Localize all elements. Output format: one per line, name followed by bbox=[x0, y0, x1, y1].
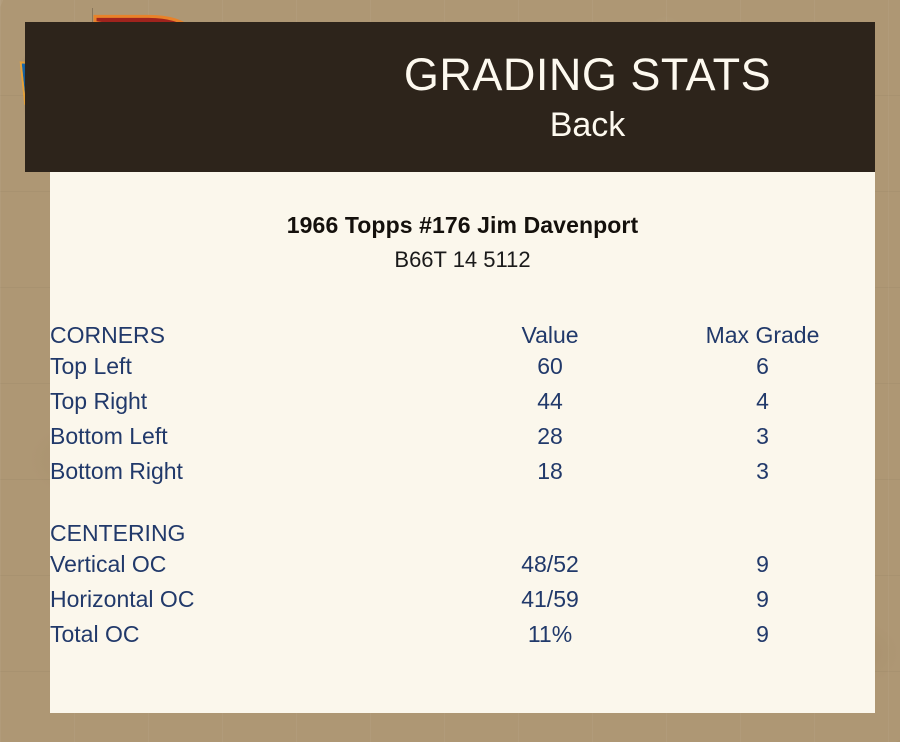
section-header-row: CENTERING bbox=[50, 505, 875, 547]
page-title: GRADING STATS bbox=[404, 49, 771, 101]
row-label: Total OC bbox=[50, 617, 450, 652]
row-label: Top Right bbox=[50, 384, 450, 419]
stats-table-body: CORNERSValueMax GradeTop Left606Top Righ… bbox=[50, 307, 875, 652]
row-label: Bottom Right bbox=[50, 454, 450, 489]
row-value: 28 bbox=[450, 419, 650, 454]
page-subtitle: Back bbox=[550, 105, 626, 145]
row-max-grade: 9 bbox=[650, 547, 875, 582]
grading-stats-table: CORNERSValueMax GradeTop Left606Top Righ… bbox=[50, 307, 875, 652]
row-max-grade: 9 bbox=[650, 617, 875, 652]
row-max-grade: 6 bbox=[650, 349, 875, 384]
column-header-max-grade: Max Grade bbox=[650, 307, 875, 349]
spacer-cell bbox=[50, 489, 875, 505]
row-value: 44 bbox=[450, 384, 650, 419]
row-value: 41/59 bbox=[450, 582, 650, 617]
table-row: Top Right444 bbox=[50, 384, 875, 419]
row-max-grade: 4 bbox=[650, 384, 875, 419]
table-row: Top Left606 bbox=[50, 349, 875, 384]
row-max-grade: 3 bbox=[650, 454, 875, 489]
row-value: 11% bbox=[450, 617, 650, 652]
content-panel: 1966 Topps #176 Jim Davenport B66T 14 51… bbox=[50, 172, 875, 713]
table-row: Horizontal OC41/599 bbox=[50, 582, 875, 617]
row-max-grade: 3 bbox=[650, 419, 875, 454]
row-value: 60 bbox=[450, 349, 650, 384]
table-row: Total OC11%9 bbox=[50, 617, 875, 652]
row-label: Horizontal OC bbox=[50, 582, 450, 617]
header-titles: GRADING STATS Back bbox=[300, 22, 875, 172]
section-title: CORNERS bbox=[50, 307, 450, 349]
card-subtitle: B66T 14 5112 bbox=[50, 247, 875, 273]
table-row: Bottom Left283 bbox=[50, 419, 875, 454]
table-row: Bottom Right183 bbox=[50, 454, 875, 489]
row-label: Vertical OC bbox=[50, 547, 450, 582]
row-label: Bottom Left bbox=[50, 419, 450, 454]
section-spacer bbox=[50, 489, 875, 505]
column-header-max-grade bbox=[650, 505, 875, 547]
section-title: CENTERING bbox=[50, 505, 450, 547]
row-value: 48/52 bbox=[450, 547, 650, 582]
row-value: 18 bbox=[450, 454, 650, 489]
column-header-value bbox=[450, 505, 650, 547]
row-max-grade: 9 bbox=[650, 582, 875, 617]
card-title: 1966 Topps #176 Jim Davenport bbox=[50, 212, 875, 239]
column-header-value: Value bbox=[450, 307, 650, 349]
section-header-row: CORNERSValueMax Grade bbox=[50, 307, 875, 349]
table-row: Vertical OC48/529 bbox=[50, 547, 875, 582]
row-label: Top Left bbox=[50, 349, 450, 384]
